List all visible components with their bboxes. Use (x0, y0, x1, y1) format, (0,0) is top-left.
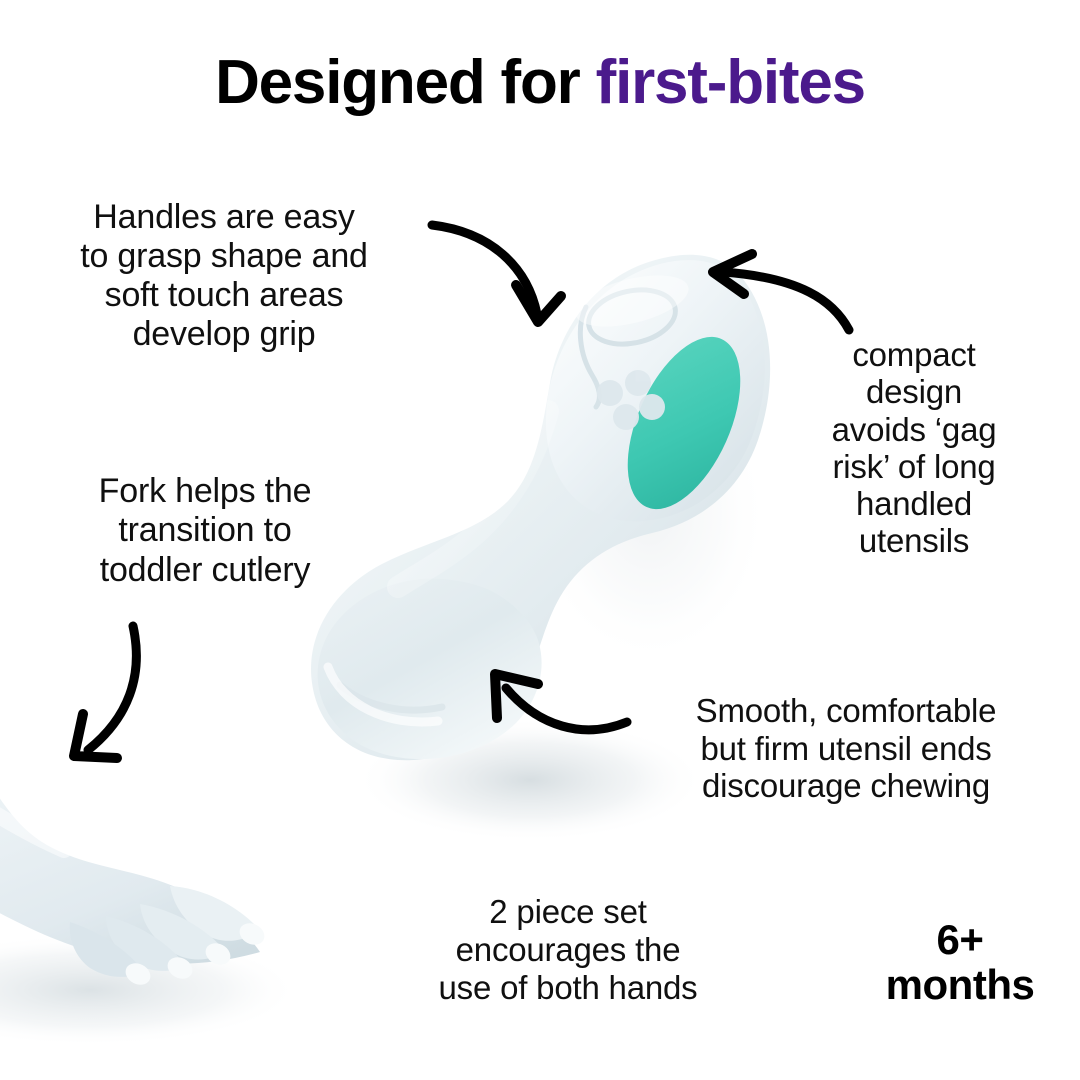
callout-handles: Handles are easy to grasp shape and soft… (24, 198, 424, 354)
infographic-canvas: Designed for first-bites Handles are eas… (0, 0, 1080, 1080)
page-title: Designed for first-bites (0, 52, 1080, 114)
age-badge: 6+ months (852, 918, 1068, 1008)
callout-two-piece-set: 2 piece set encourages the use of both h… (392, 893, 744, 1007)
page-title-accent: first-bites (596, 48, 865, 117)
product-image-fork (0, 690, 360, 1080)
callout-compact-design: compact design avoids ‘gag risk’ of long… (766, 336, 1062, 560)
callout-smooth-ends: Smooth, comfortable but firm utensil end… (630, 692, 1062, 805)
callout-fork: Fork helps the transition to toddler cut… (20, 472, 390, 590)
page-title-lead: Designed for (215, 48, 596, 117)
